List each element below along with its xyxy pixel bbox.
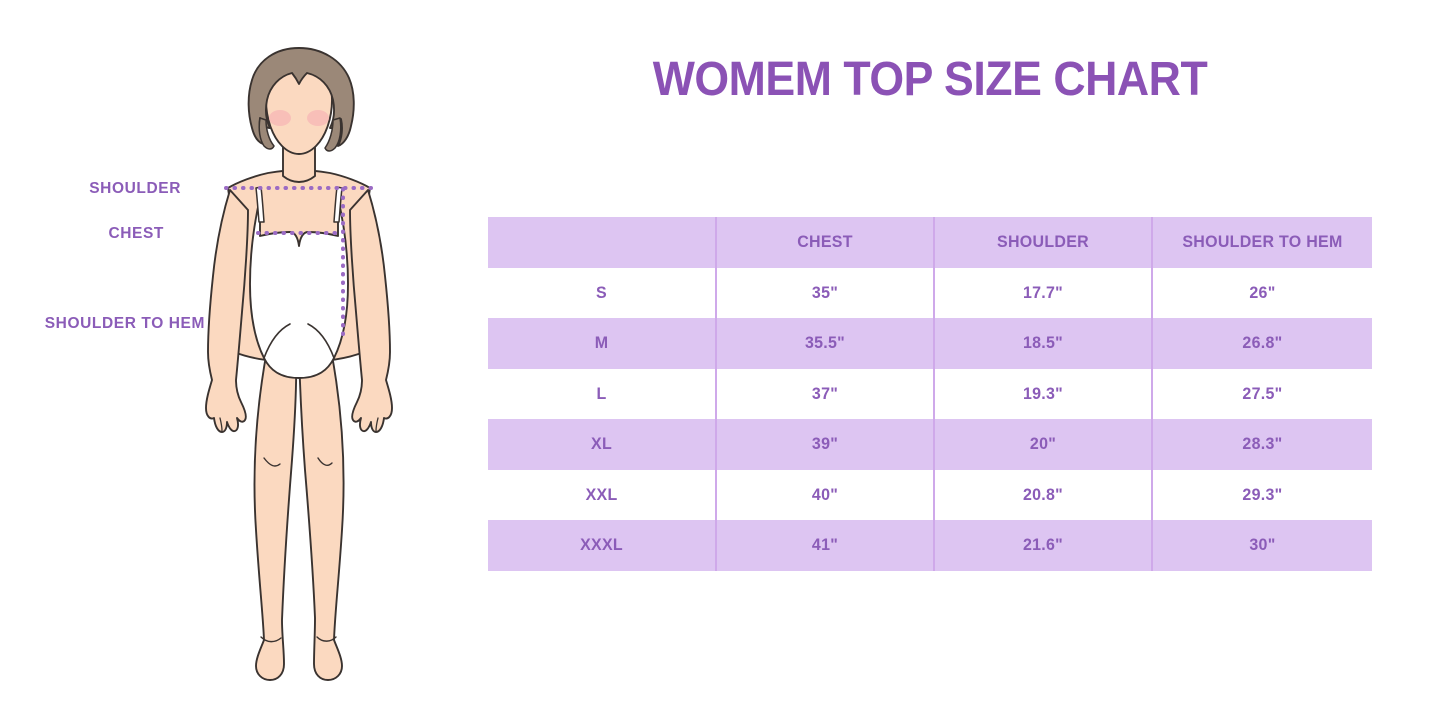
table-row: XL 39" 20" 28.3" — [488, 419, 1372, 470]
cell-shoulder: 20.8" — [941, 470, 1146, 521]
cell-shoulder-to-hem: 29.3" — [1159, 470, 1366, 521]
cell-shoulder-to-hem: 27.5" — [1159, 369, 1366, 420]
cell-size: XXXL — [495, 520, 709, 571]
cell-size: XL — [495, 419, 709, 470]
cell-size: L — [495, 369, 709, 420]
table-row: XXXL 41" 21.6" 30" — [488, 520, 1372, 571]
cell-chest: 41" — [723, 520, 928, 571]
table-row: M 35.5" 18.5" 26.8" — [488, 318, 1372, 369]
cell-shoulder-to-hem: 28.3" — [1159, 419, 1366, 470]
cell-shoulder-to-hem: 26" — [1159, 268, 1366, 319]
table-row: S 35" 17.7" 26" — [488, 268, 1372, 319]
cell-chest: 35.5" — [723, 318, 928, 369]
cell-chest: 37" — [723, 369, 928, 420]
cell-shoulder: 19.3" — [941, 369, 1146, 420]
cell-shoulder-to-hem: 30" — [1159, 520, 1366, 571]
table-row: XXL 40" 20.8" 29.3" — [488, 470, 1372, 521]
page-title: WOMEM TOP SIZE CHART — [512, 52, 1349, 107]
cell-chest: 40" — [723, 470, 928, 521]
size-chart-table: CHEST SHOULDER SHOULDER TO HEM S 35" 17.… — [488, 217, 1372, 571]
right-leg — [299, 350, 344, 680]
cell-chest: 35" — [723, 268, 928, 319]
cell-size: S — [495, 268, 709, 319]
left-arm — [206, 190, 248, 432]
cell-shoulder: 18.5" — [941, 318, 1146, 369]
measurement-label-chest: CHEST — [0, 225, 164, 243]
cell-shoulder: 17.7" — [941, 268, 1146, 319]
column-header-shoulder-to-hem: SHOULDER TO HEM — [1159, 217, 1366, 268]
column-header-chest: CHEST — [723, 217, 928, 268]
table-row: L 37" 19.3" 27.5" — [488, 369, 1372, 420]
right-arm — [350, 190, 392, 432]
cell-chest: 39" — [723, 419, 928, 470]
cell-size: XXL — [495, 470, 709, 521]
table-header-row: CHEST SHOULDER SHOULDER TO HEM — [488, 217, 1372, 268]
column-header-size — [495, 217, 709, 268]
size-chart-page: WOMEM TOP SIZE CHART SHOULDER CHEST SHOU… — [0, 0, 1445, 723]
cell-shoulder: 20" — [941, 419, 1146, 470]
column-header-shoulder: SHOULDER — [941, 217, 1146, 268]
cell-shoulder-to-hem: 26.8" — [1159, 318, 1366, 369]
cell-shoulder: 21.6" — [941, 520, 1146, 571]
right-cheek-blush — [307, 110, 329, 126]
left-cheek-blush — [269, 110, 291, 126]
cell-size: M — [495, 318, 709, 369]
measurement-label-shoulder: SHOULDER — [0, 180, 181, 198]
left-leg — [254, 350, 296, 680]
body-figure-illustration — [168, 40, 428, 690]
